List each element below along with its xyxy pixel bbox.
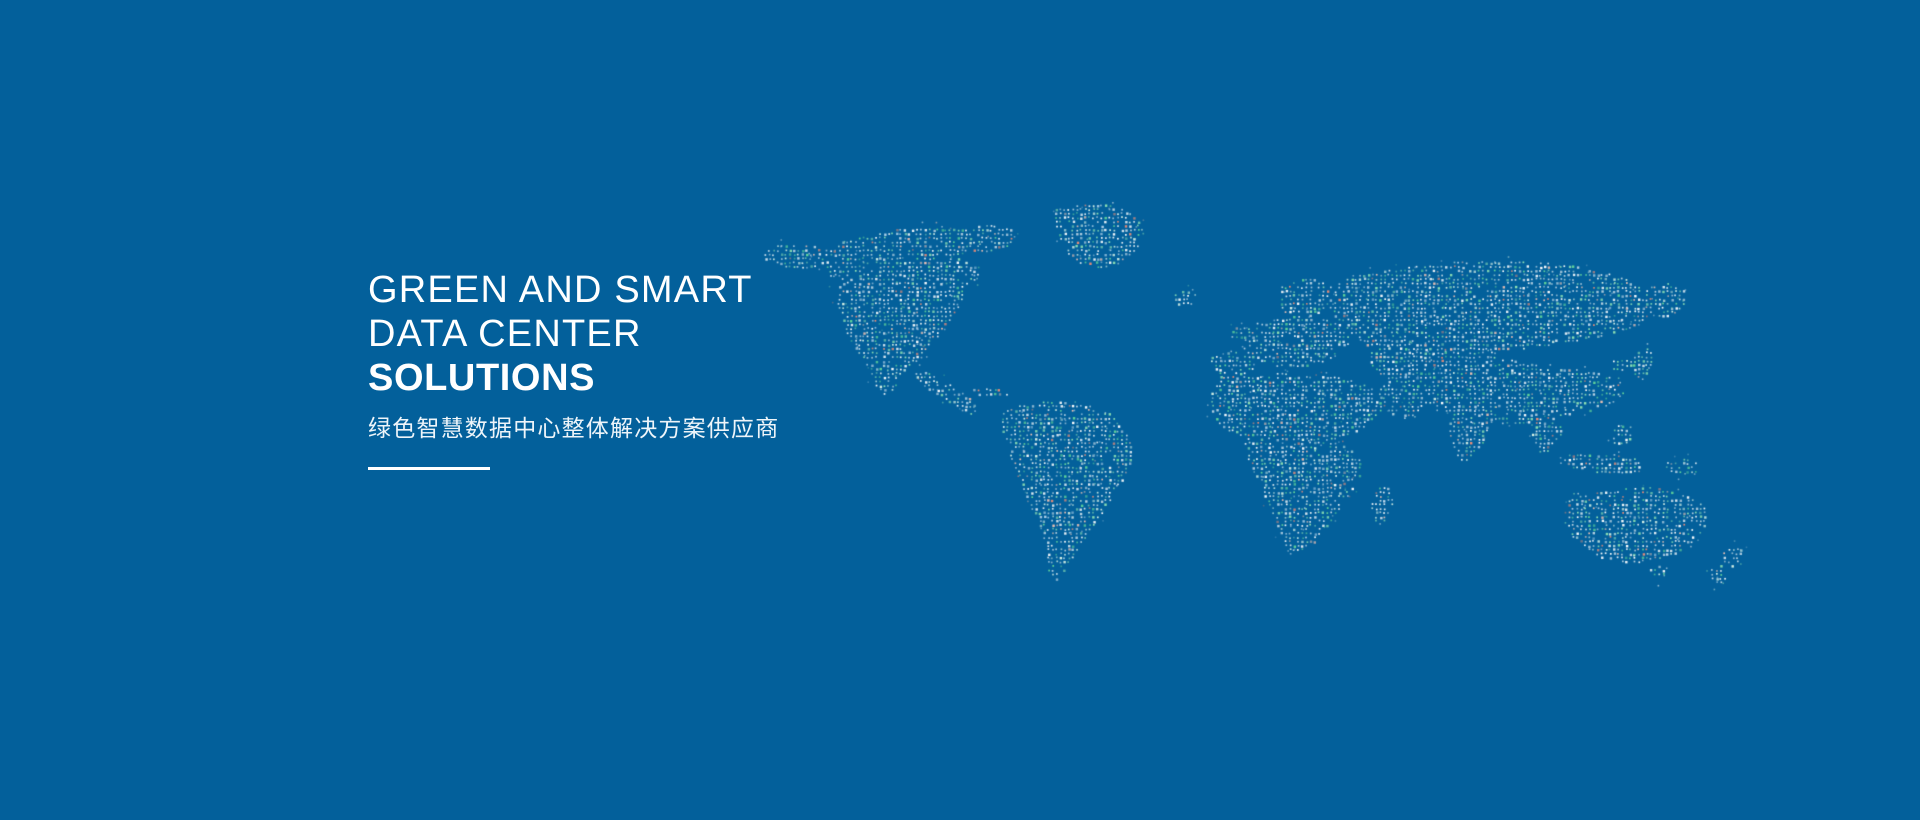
headline-line-3: SOLUTIONS — [368, 356, 1008, 400]
hero-banner: GREEN AND SMART DATA CENTER SOLUTIONS 绿色… — [0, 0, 1920, 820]
hero-text-block: GREEN AND SMART DATA CENTER SOLUTIONS 绿色… — [368, 268, 1008, 470]
hero-divider-rule — [368, 467, 490, 470]
headline-line-2: DATA CENTER — [368, 312, 1008, 356]
headline-line-1: GREEN AND SMART — [368, 268, 1008, 312]
hero-subtitle: 绿色智慧数据中心整体解决方案供应商 — [368, 413, 1008, 443]
